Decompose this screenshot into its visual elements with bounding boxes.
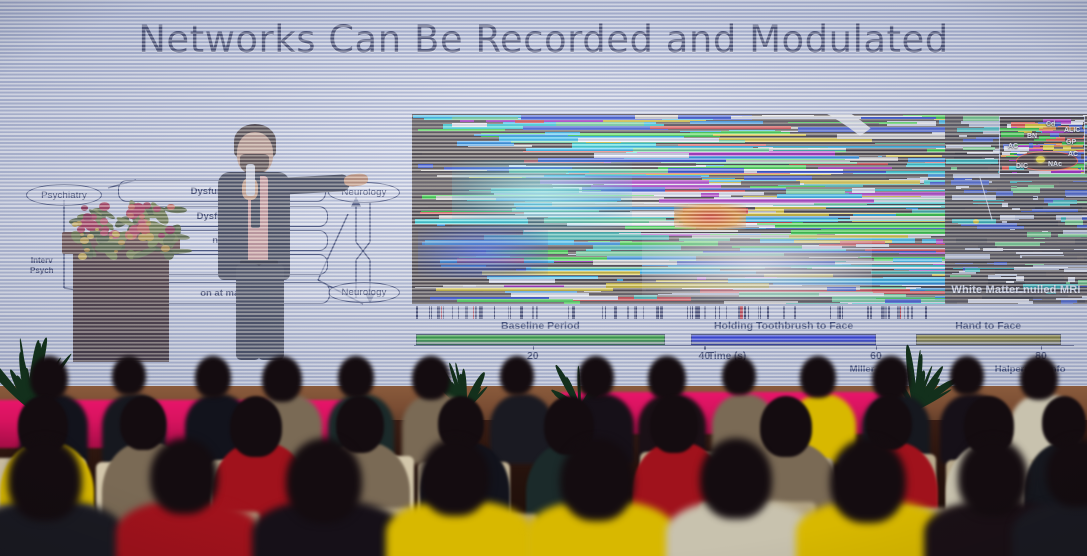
inset-label-ac-2: AC (1068, 151, 1078, 158)
flower-accent (146, 221, 151, 225)
spike-mark (695, 306, 698, 319)
diagram-left-caption: Interv Psych (30, 256, 54, 276)
flower-bloom (158, 233, 165, 239)
spike-mark (520, 306, 523, 319)
flower-accent (72, 222, 78, 227)
flower-accent (95, 228, 99, 231)
audience-head (230, 396, 282, 457)
spike-mark (465, 306, 468, 319)
white-matter-nulled-mri-image: Cd ALIC BN GP AC AC NAc DIC White Matter… (945, 114, 1087, 304)
caption-line-2: Psych (30, 266, 54, 276)
speaker-arm-left (220, 180, 240, 242)
spike-mark (482, 306, 483, 319)
spike-mark (704, 306, 705, 319)
mri-white-region (642, 234, 872, 300)
audience-head (560, 438, 634, 521)
inset-label-bn: BN (1027, 133, 1037, 140)
floral-arrangement (66, 198, 178, 260)
spike-mark (783, 306, 784, 319)
electrode-target-dot (1036, 156, 1045, 163)
spike-mark (605, 306, 606, 319)
audience-head (830, 438, 906, 523)
flower-accent (84, 248, 89, 252)
audience-head (286, 438, 362, 523)
flower-bloom (128, 204, 135, 210)
flower-accent (118, 240, 125, 246)
spike-mark (795, 306, 796, 319)
audience-head (722, 356, 756, 395)
spike-mark (660, 306, 663, 319)
spike-mark (719, 306, 720, 319)
spike-mark (767, 306, 768, 319)
spike-mark (431, 306, 432, 319)
mri-hot-spot (674, 204, 746, 230)
spike-mark (925, 306, 926, 319)
audience-head (412, 356, 450, 400)
spike-mark (572, 306, 575, 319)
inset-label-alic: ALIC (1064, 127, 1080, 134)
spike-mark (760, 306, 761, 319)
inset-label-nac: NAc (1048, 161, 1062, 168)
audience-head (1020, 356, 1058, 400)
flower-accent (78, 253, 87, 260)
spike-mark (627, 306, 628, 319)
spike-mark (692, 306, 693, 319)
anatomical-inset: Cd ALIC BN GP AC AC NAc DIC (999, 116, 1085, 174)
spike-mark (900, 306, 901, 319)
flower-accent (127, 234, 133, 238)
audience-head (648, 356, 686, 400)
spike-mark (698, 306, 699, 319)
audience-head (700, 438, 772, 519)
flower-bloom (81, 205, 88, 211)
audience-head (420, 438, 490, 516)
inset-label-dic: DIC (1016, 163, 1028, 170)
spike-mark (643, 306, 644, 319)
flower-accent (114, 250, 118, 254)
mri-caption: White Matter nulled MRI (949, 284, 1083, 296)
audience-head (500, 356, 534, 395)
spike-raster-plot (414, 306, 944, 319)
flower-bloom (127, 213, 134, 219)
spike-mark (744, 306, 747, 319)
spike-mark (536, 306, 537, 319)
electrode-marker (973, 219, 979, 224)
spike-mark (636, 306, 637, 319)
spike-mark (614, 306, 617, 319)
audience (0, 330, 1087, 556)
audience-head (760, 396, 812, 457)
inset-label-gp: GP (1066, 139, 1076, 146)
slide-data-panel: Cd ALIC BN GP AC AC NAc DIC White Matter… (412, 114, 1087, 364)
caption-line-1: Interv (30, 256, 54, 266)
inset-label-ac: AC (1008, 143, 1018, 150)
audience-head (872, 356, 910, 400)
audience-head (30, 356, 68, 400)
spike-mark (867, 306, 870, 319)
flower-accent (80, 233, 84, 236)
spike-mark (904, 306, 905, 319)
spike-mark (830, 306, 831, 319)
flower-bloom (165, 226, 175, 234)
fmri-activation-image (412, 114, 945, 304)
spike-mark (532, 306, 533, 319)
spike-mark (568, 306, 569, 319)
mri-blue-region (418, 226, 548, 278)
spike-mark (842, 306, 843, 319)
speaker-arm-right (278, 174, 351, 195)
spike-mark (429, 306, 430, 319)
spike-mark (687, 306, 688, 319)
audience-head (120, 396, 166, 450)
flower-bloom (100, 218, 108, 225)
spike-mark (438, 306, 439, 319)
spike-mark (884, 306, 887, 319)
spike-mark (889, 306, 890, 319)
conference-presentation-scene: Networks Can Be Recorded and Modulated (0, 0, 1087, 556)
spike-mark (839, 306, 842, 319)
audience-head (800, 356, 836, 398)
microphone (246, 164, 255, 196)
speaker-presenter (196, 124, 366, 359)
spike-mark (510, 306, 511, 319)
spike-mark (602, 306, 603, 319)
audience-head (650, 396, 698, 453)
flower-bloom (100, 230, 108, 237)
spike-mark (748, 306, 749, 319)
spike-mark (740, 306, 743, 319)
audience-head (195, 356, 231, 398)
flower-accent (80, 237, 89, 244)
audience-head (150, 438, 218, 514)
audience-head (578, 356, 614, 398)
spike-mark (443, 306, 444, 319)
audience-head (262, 356, 302, 402)
spike-mark (476, 306, 477, 319)
spike-mark (522, 306, 523, 319)
spike-mark (475, 306, 476, 319)
speaker-hand-right (343, 173, 368, 187)
audience-head (958, 438, 1028, 516)
audience-head (950, 356, 984, 395)
audience-head (8, 438, 82, 521)
spike-mark (452, 306, 453, 319)
spike-mark (726, 306, 727, 319)
spike-mark (458, 306, 459, 319)
spike-mark (656, 306, 659, 319)
spike-mark (907, 306, 908, 319)
spike-mark (715, 306, 716, 319)
spike-mark (441, 306, 442, 319)
audience-head (338, 356, 374, 398)
spike-mark (473, 306, 474, 319)
spike-mark (494, 306, 495, 319)
inset-label-cd: Cd (1046, 121, 1055, 128)
spike-mark (416, 306, 417, 319)
flower-bloom (99, 202, 110, 211)
slide-title: Networks Can Be Recorded and Modulated (0, 18, 1087, 61)
mri-cool-region (452, 160, 632, 230)
spike-mark (870, 306, 871, 319)
spike-mark (911, 306, 912, 319)
flower-accent (145, 233, 154, 240)
audience-head (112, 356, 146, 395)
spike-mark (508, 306, 509, 319)
